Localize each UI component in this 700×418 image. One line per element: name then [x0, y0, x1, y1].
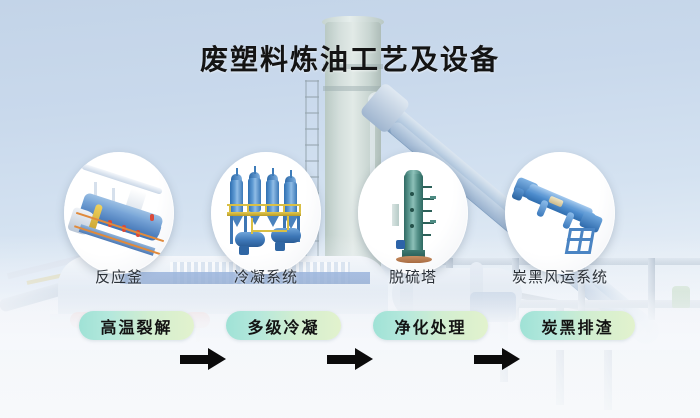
badge-purification: 净化处理	[373, 311, 488, 340]
arrow-right-icon	[474, 348, 520, 370]
bubble-desulfurizer[interactable]	[358, 152, 468, 274]
condenser-system-icon	[211, 152, 321, 274]
badge-carbon-black-discharge: 炭黑排渣	[520, 311, 635, 340]
flow-node-carbon-black-conveyor[interactable]	[505, 152, 615, 274]
infographic-canvas: 废塑料炼油工艺及设备	[0, 0, 700, 418]
arrow-right-icon	[327, 348, 373, 370]
bubble-reactor[interactable]	[64, 152, 174, 274]
badge-multistage-condensation: 多级冷凝	[226, 311, 341, 340]
caption-desulfurizer: 脱硫塔	[338, 266, 488, 287]
flow-node-reactor[interactable]	[64, 152, 174, 274]
desulfurization-tower-icon	[358, 152, 468, 274]
arrow-right-icon	[180, 348, 226, 370]
flow-node-desulfurizer[interactable]	[358, 152, 468, 274]
caption-condenser: 冷凝系统	[191, 266, 341, 287]
caption-reactor: 反应釜	[44, 266, 194, 287]
caption-carbon-black-conveyor: 炭黑风运系统	[485, 266, 635, 287]
flow-node-condenser[interactable]	[211, 152, 321, 274]
screw-conveyor-icon	[505, 152, 615, 274]
page-title: 废塑料炼油工艺及设备	[0, 38, 700, 78]
rotary-reactor-icon	[64, 152, 174, 274]
badge-high-temp-pyrolysis: 高温裂解	[79, 311, 194, 340]
bubble-carbon-black-conveyor[interactable]	[505, 152, 615, 274]
bubble-condenser[interactable]	[211, 152, 321, 274]
process-flow-row	[0, 152, 700, 274]
